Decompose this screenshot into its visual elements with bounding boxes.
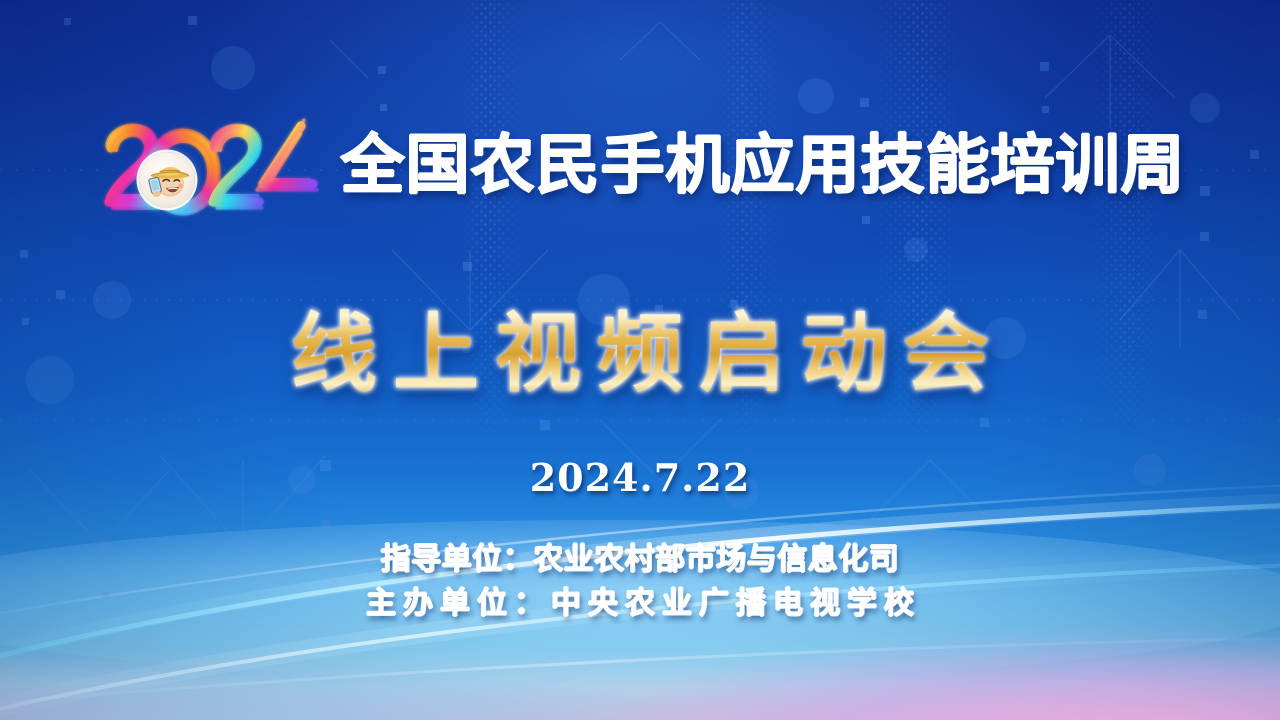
logo-2024 (95, 114, 323, 218)
subtitle-row: 线上视频启动会 线上视频启动会 (0, 300, 1280, 408)
logo-2024-ribbon-icon (95, 114, 323, 218)
farmer-with-phone-icon (139, 152, 195, 208)
page-title: 全国农民手机应用技能培训周 (341, 134, 1186, 198)
poster-header: 全国农民手机应用技能培训周 (0, 112, 1280, 220)
event-date: 2024.7.22 (0, 455, 1280, 500)
organization-block: 指导单位：农业农村部市场与信息化司 主办单位：中央农业广播电视学校 (0, 538, 1280, 626)
poster-canvas: 全国农民手机应用技能培训周 线上视频启动会 线上视频启动会 2024.7.22 … (0, 0, 1280, 720)
host-organization: 主办单位：中央农业广播电视学校 (0, 582, 1280, 626)
mascot-avatar (139, 152, 195, 208)
guidance-organization: 指导单位：农业农村部市场与信息化司 (0, 538, 1280, 582)
subtitle: 线上视频启动会 (275, 300, 1005, 408)
